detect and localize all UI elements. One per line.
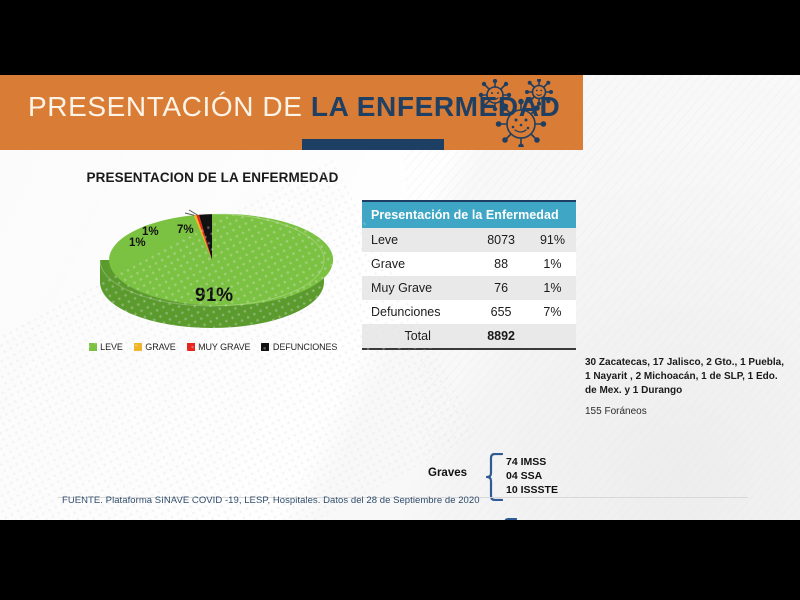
legend-swatch-defunciones [261,343,269,351]
row-pct-muy-grave: 1% [529,276,576,300]
table-row: Muy Grave 76 1% [362,276,576,300]
row-count-leve: 8073 [473,228,529,252]
presentacion-enfermedad-table: Presentación de la Enfermedad Leve 8073 … [362,200,576,350]
row-count-total: 8892 [473,324,529,349]
graves-breakdown-group: Graves 74 IMSS 04 SSA 10 ISSSTE [428,453,598,501]
graves-lines: 74 IMSS 04 SSA 10 ISSSTE [506,456,558,498]
slide-header-banner: PRESENTACIÓN DE LA ENFERMEDAD [0,75,583,150]
row-pct-leve: 91% [529,228,576,252]
pie-chart-panel: PRESENTACION DE LA ENFERMEDAD [75,170,350,370]
row-pct-grave: 1% [529,252,576,276]
row-label-total: Total [362,324,473,349]
coronavirus-icon-cluster [468,79,578,147]
legend-swatch-grave [134,343,142,351]
pie-chart-svg [85,198,340,338]
table-total-row: Total 8892 [362,324,576,349]
row-count-defunciones: 655 [473,300,529,324]
muy-graves-breakdown-group: Muy graves 41 IMSS 32 SSA 03 ISSSTE [428,518,598,520]
table-row: Defunciones 655 7% [362,300,576,324]
footer-source-text: FUENTE. Plataforma SINAVE COVID -19, LES… [62,495,480,506]
pie-callout-grave: 1% [142,226,159,238]
table-header-title: Presentación de la Enfermedad [362,201,576,228]
slide-canvas: PRESENTACIÓN DE LA ENFERMEDAD [0,75,800,520]
row-label-grave: Grave [362,252,473,276]
curly-brace-icon [500,518,518,520]
table-header-row: Presentación de la Enfermedad [362,201,576,228]
legend-label-muy-grave: MUY GRAVE [198,342,250,352]
row-pct-total [529,324,576,349]
header-accent-bar [302,139,444,150]
row-label-leve: Leve [362,228,473,252]
row-count-muy-grave: 76 [473,276,529,300]
pie-callout-muy-grave: 1% [129,237,146,249]
screenshot-stage: PRESENTACIÓN DE LA ENFERMEDAD [0,0,800,600]
table-row: Leve 8073 91% [362,228,576,252]
curly-brace-icon [486,453,504,501]
legend-item-muy-grave: MUY GRAVE [187,342,251,352]
coronavirus-icon [468,79,578,147]
legend-label-grave: GRAVE [145,342,175,352]
legend-item-grave: GRAVE [134,342,176,352]
chart-title: PRESENTACION DE LA ENFERMEDAD [75,170,350,185]
pie-label-leve: 91% [195,285,233,307]
foraneos-note: 155 Foráneos [585,406,647,417]
data-table-panel: Presentación de la Enfermedad Leve 8073 … [362,200,576,350]
chart-legend: LEVE GRAVE MUY GRAVE DEFUNCIONES [88,342,338,352]
states-breakdown-note: 30 Zacatecas, 17 Jalisco, 2 Gto., 1 Pueb… [585,356,792,397]
pie-chart: 1% 1% 7% 91% [85,198,340,336]
graves-line-issste: 10 ISSSTE [506,484,558,498]
legend-swatch-leve [89,343,97,351]
graves-line-ssa: 04 SSA [506,470,558,484]
graves-line-imss: 74 IMSS [506,456,558,470]
legend-item-leve: LEVE [89,342,123,352]
page-title-light: PRESENTACIÓN DE [28,91,311,122]
legend-label-defunciones: DEFUNCIONES [273,342,337,352]
table-row: Grave 88 1% [362,252,576,276]
graves-label: Graves [428,467,467,479]
legend-item-defunciones: DEFUNCIONES [261,342,337,352]
row-label-muy-grave: Muy Grave [362,276,473,300]
row-pct-defunciones: 7% [529,300,576,324]
legend-swatch-muy-grave [187,343,195,351]
legend-label-leve: LEVE [100,342,123,352]
pie-callout-defunciones: 7% [177,224,194,236]
row-count-grave: 88 [473,252,529,276]
row-label-defunciones: Defunciones [362,300,473,324]
